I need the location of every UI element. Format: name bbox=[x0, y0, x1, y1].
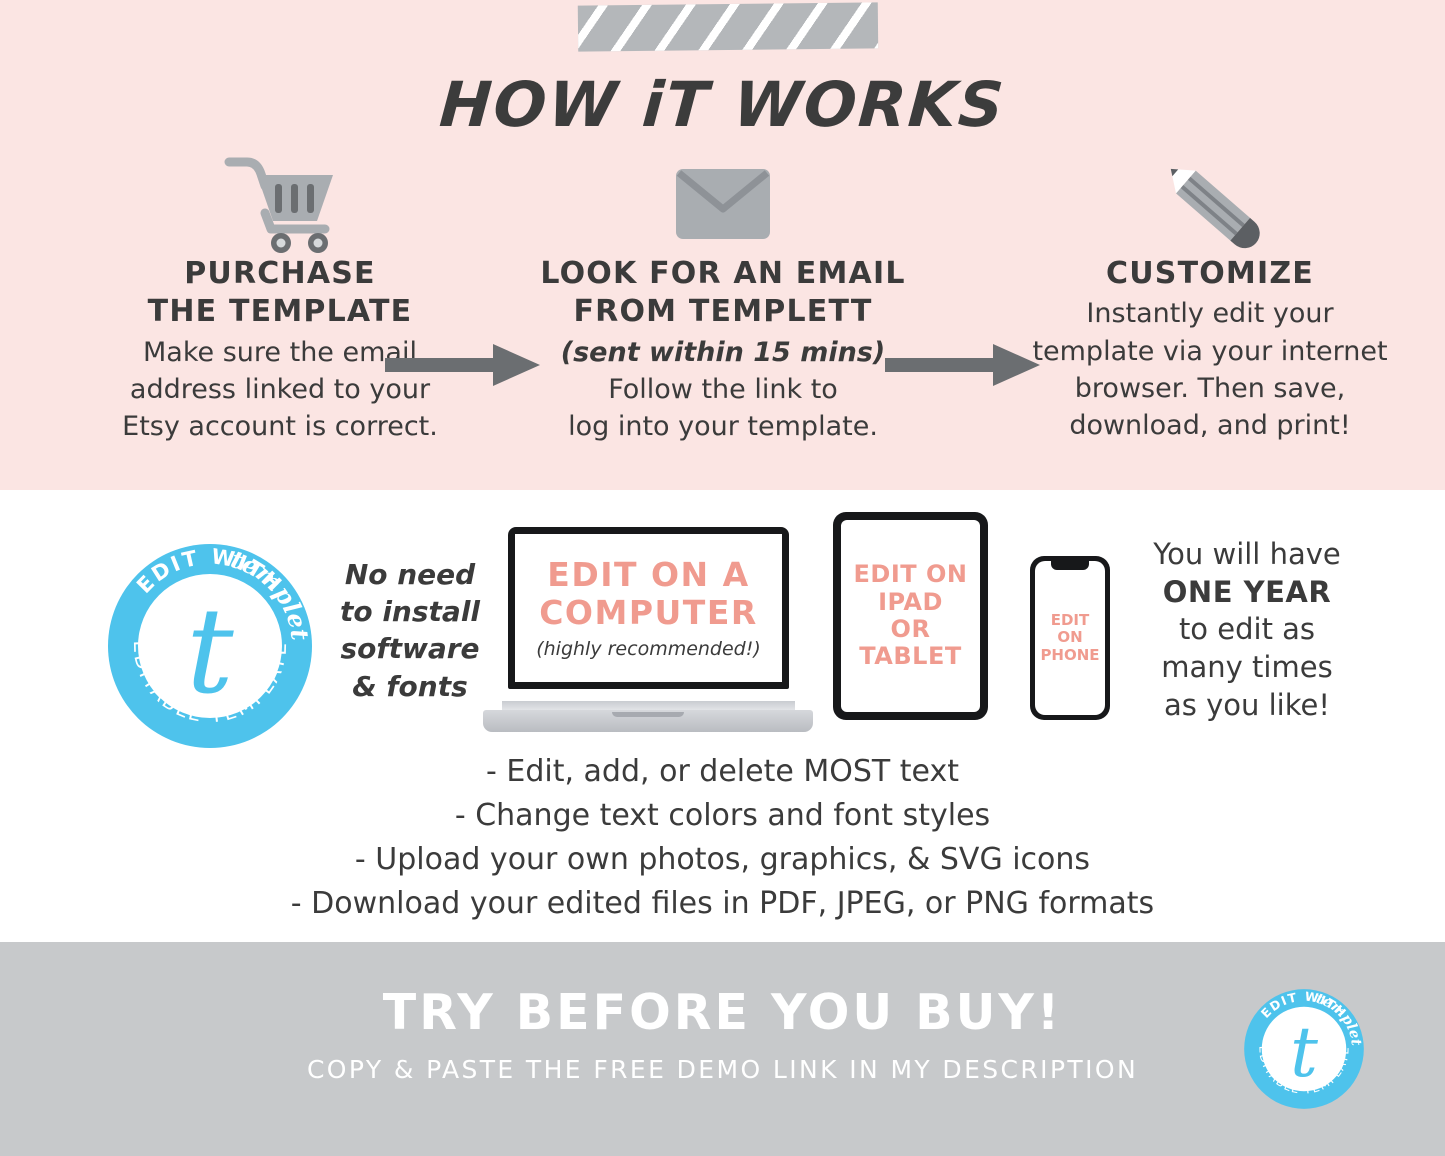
no-need-to-install-text: No need to install software & fonts bbox=[330, 556, 490, 705]
laptop-hinge bbox=[502, 701, 795, 710]
tablet-line1: EDIT ON bbox=[854, 560, 968, 588]
footer-section: TRY BEFORE YOU BUY! COPY & PASTE THE FRE… bbox=[0, 942, 1445, 1156]
phone-screen-text: EDIT ON PHONE bbox=[1040, 612, 1099, 664]
step-body: Instantly edit your template via your in… bbox=[1015, 295, 1405, 444]
one-year-line4: many times bbox=[1161, 650, 1332, 684]
step-heading: CUSTOMIZE bbox=[1015, 255, 1405, 293]
tablet-mockup: EDIT ON IPAD OR TABLET bbox=[833, 512, 988, 720]
laptop-lid: EDIT ON A COMPUTER (highly recommended!) bbox=[508, 527, 789, 689]
phone-screen: EDIT ON PHONE bbox=[1035, 561, 1105, 715]
no-need-line2: to install bbox=[340, 595, 480, 628]
pencil-icon bbox=[1015, 150, 1405, 255]
step1-body-line1: Make sure the email bbox=[143, 337, 417, 368]
no-need-line3: software bbox=[340, 632, 479, 665]
list-item: - Upload your own photos, graphics, & SV… bbox=[0, 838, 1445, 882]
how-it-works-section: HOW iT WORKS bbox=[0, 0, 1445, 490]
right-arrow-icon-1 bbox=[385, 342, 540, 388]
shopping-cart-icon bbox=[85, 150, 475, 255]
step3-body-line4: download, and print! bbox=[1069, 410, 1350, 441]
laptop-line1: EDIT ON A bbox=[547, 555, 749, 594]
tablet-screen: EDIT ON IPAD OR TABLET bbox=[841, 520, 980, 712]
templett-badge-small: EDIT WITH templett EDITABLE TEMPLATE t bbox=[1243, 988, 1365, 1110]
laptop-screen-text: EDIT ON A COMPUTER bbox=[539, 556, 758, 633]
steps-row: PURCHASE THE TEMPLATE Make sure the emai… bbox=[0, 150, 1445, 470]
list-item: - Edit, add, or delete MOST text bbox=[0, 750, 1445, 794]
laptop-screen: EDIT ON A COMPUTER (highly recommended!) bbox=[515, 534, 782, 682]
tablet-line2: IPAD bbox=[878, 588, 943, 616]
no-need-line4: & fonts bbox=[352, 670, 468, 703]
step2-body-line3: log into your template. bbox=[568, 411, 878, 442]
feature-bullet-list: - Edit, add, or delete MOST text - Chang… bbox=[0, 750, 1445, 926]
step1-heading-line2: THE TEMPLATE bbox=[148, 294, 413, 329]
step2-body-line2: Follow the link to bbox=[608, 374, 838, 405]
phone-mockup: EDIT ON PHONE bbox=[1030, 556, 1110, 720]
step1-body-line3: Etsy account is correct. bbox=[122, 411, 438, 442]
laptop-screen-note: (highly recommended!) bbox=[536, 638, 761, 660]
footer-subtitle: COPY & PASTE THE FREE DEMO LINK IN MY DE… bbox=[0, 1055, 1445, 1084]
no-need-line1: No need bbox=[345, 558, 475, 591]
step-purchase: PURCHASE THE TEMPLATE Make sure the emai… bbox=[85, 150, 475, 446]
step3-body-line3: browser. Then save, bbox=[1075, 373, 1345, 404]
one-year-line1: You will have bbox=[1153, 537, 1340, 571]
laptop-base bbox=[483, 710, 813, 732]
list-item: - Download your edited files in PDF, JPE… bbox=[0, 882, 1445, 926]
infographic-page: HOW iT WORKS bbox=[0, 0, 1445, 1156]
step3-body-line2: template via your internet bbox=[1032, 336, 1387, 367]
step-heading: LOOK FOR AN EMAIL FROM TEMPLETT bbox=[528, 255, 918, 332]
step-look-for-email: LOOK FOR AN EMAIL FROM TEMPLETT (sent wi… bbox=[528, 150, 918, 446]
laptop-line2: COMPUTER bbox=[539, 593, 758, 632]
list-item: - Change text colors and font styles bbox=[0, 794, 1445, 838]
one-year-line5: as you like! bbox=[1164, 688, 1330, 722]
tablet-line4: TABLET bbox=[859, 642, 961, 670]
tablet-line3: OR bbox=[891, 615, 931, 643]
step1-heading-line1: PURCHASE bbox=[184, 256, 376, 291]
one-year-emphasis: ONE YEAR bbox=[1163, 575, 1331, 609]
footer-title: TRY BEFORE YOU BUY! bbox=[0, 984, 1445, 1041]
phone-line2: ON bbox=[1057, 628, 1082, 646]
phone-notch bbox=[1051, 561, 1089, 570]
tablet-screen-text: EDIT ON IPAD OR TABLET bbox=[854, 561, 968, 670]
right-arrow-icon-2 bbox=[885, 342, 1040, 388]
phone-line3: PHONE bbox=[1040, 646, 1099, 664]
one-year-text: You will have ONE YEAR to edit as many t… bbox=[1118, 536, 1376, 724]
step-body: (sent within 15 mins) Follow the link to… bbox=[528, 334, 918, 446]
page-title: HOW iT WORKS bbox=[0, 68, 1445, 141]
envelope-icon bbox=[528, 150, 918, 255]
phone-line1: EDIT bbox=[1051, 611, 1090, 629]
step-customize: CUSTOMIZE Instantly edit your template v… bbox=[1015, 150, 1405, 444]
svg-text:t: t bbox=[186, 582, 234, 720]
laptop-mockup: EDIT ON A COMPUTER (highly recommended!) bbox=[483, 527, 813, 732]
step2-heading-line1: LOOK FOR AN EMAIL bbox=[540, 256, 905, 291]
step2-body-line1: (sent within 15 mins) bbox=[561, 337, 885, 368]
washi-stripes bbox=[578, 2, 878, 51]
svg-text:t: t bbox=[1290, 1013, 1318, 1093]
step-heading: PURCHASE THE TEMPLATE bbox=[85, 255, 475, 332]
step3-body-line1: Instantly edit your bbox=[1086, 298, 1333, 329]
step3-heading-line1: CUSTOMIZE bbox=[1106, 256, 1314, 291]
step2-heading-line2: FROM TEMPLETT bbox=[573, 294, 872, 329]
templett-badge-large: EDIT WITH templett EDITABLE TEMPLATE t bbox=[106, 542, 314, 750]
one-year-line3: to edit as bbox=[1179, 612, 1315, 646]
washi-tape-icon bbox=[578, 2, 878, 51]
